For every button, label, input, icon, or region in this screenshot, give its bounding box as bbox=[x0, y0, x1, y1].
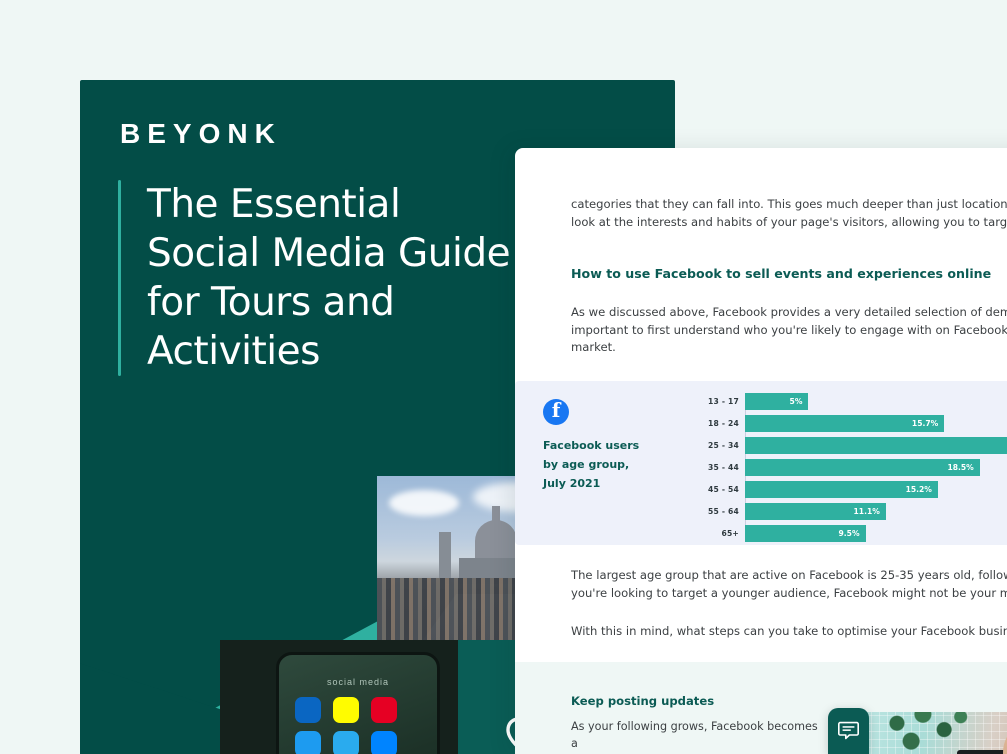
document-preview-panel: categories that they can fall into. This… bbox=[515, 148, 1007, 754]
chart-category-label: 18 - 24 bbox=[693, 419, 745, 428]
chart-bar-row: 35 - 4418.5% bbox=[693, 459, 1007, 476]
chart-bar-row: 25 - 34 bbox=[693, 437, 1007, 454]
chart-bar: 15.7% bbox=[745, 415, 944, 432]
social-app-icon-messenger bbox=[371, 731, 397, 754]
social-app-grid bbox=[295, 697, 423, 754]
chart-category-label: 13 - 17 bbox=[693, 397, 745, 406]
keep-posting-heading: Keep posting updates bbox=[571, 694, 821, 708]
paragraph-3-line-2: you're looking to target a younger audie… bbox=[571, 585, 1007, 603]
chart-bar: 9.5% bbox=[745, 525, 866, 542]
chart-value-label: 11.1% bbox=[854, 507, 880, 516]
screenshot-stage: BEYONK The Essential Social Media Guide … bbox=[0, 0, 1007, 754]
chart-legend: Facebook users by age group, July 2021 bbox=[515, 381, 693, 493]
facebook-age-chart: Facebook users by age group, July 2021 1… bbox=[515, 381, 1007, 545]
chart-bar-row: 45 - 5415.2% bbox=[693, 481, 1007, 498]
chart-plot-area: 13 - 175%18 - 2415.7%25 - 3435 - 4418.5%… bbox=[693, 381, 1007, 545]
social-app-icon-pinterest bbox=[371, 697, 397, 723]
chart-category-label: 65+ bbox=[693, 529, 745, 538]
social-app-icon-telegram bbox=[333, 731, 359, 754]
chart-bar: 11.1% bbox=[745, 503, 886, 520]
keep-posting-photo bbox=[853, 712, 1007, 754]
paragraph-2-line-3: market. bbox=[571, 339, 1007, 357]
chat-widget-button[interactable] bbox=[828, 708, 869, 754]
chart-bar-row: 18 - 2415.7% bbox=[693, 415, 1007, 432]
facebook-logo-icon bbox=[543, 399, 569, 425]
chart-bar-track bbox=[745, 437, 1007, 454]
section-heading-facebook: How to use Facebook to sell events and e… bbox=[571, 265, 1007, 283]
chart-value-label: 15.2% bbox=[906, 485, 932, 494]
chart-bar bbox=[745, 437, 1007, 454]
phone-screen: social media bbox=[276, 652, 440, 754]
chart-bar: 5% bbox=[745, 393, 808, 410]
chat-bubble-icon bbox=[838, 721, 859, 741]
paragraph-3-line-1: The largest age group that are active on… bbox=[571, 567, 1007, 585]
social-app-icon-snapchat bbox=[333, 697, 359, 723]
spacer-2 bbox=[571, 602, 1007, 623]
brand-logo: BEYONK bbox=[120, 118, 282, 150]
chart-bar-track: 15.2% bbox=[745, 481, 1007, 498]
chart-bar-row: 65+9.5% bbox=[693, 525, 1007, 542]
chart-legend-line-3: July 2021 bbox=[543, 474, 693, 493]
phone-folder-label: social media bbox=[279, 677, 437, 687]
title-accent-bar bbox=[118, 180, 121, 376]
chart-legend-line-2: by age group, bbox=[543, 455, 693, 474]
cover-title-block: The Essential Social Media Guide for Tou… bbox=[118, 180, 517, 376]
paragraph-2-line-1: As we discussed above, Facebook provides… bbox=[571, 304, 1007, 322]
chart-legend-line-1: Facebook users bbox=[543, 436, 693, 455]
chart-bar: 18.5% bbox=[745, 459, 980, 476]
chart-value-label: 18.5% bbox=[947, 463, 973, 472]
paragraph-4: With this in mind, what steps can you ta… bbox=[571, 623, 1007, 641]
cover-photo-phone: social media bbox=[220, 640, 458, 754]
social-app-icon-linkedin bbox=[295, 697, 321, 723]
chart-category-label: 25 - 34 bbox=[693, 441, 745, 450]
document-content: categories that they can fall into. This… bbox=[515, 148, 1007, 357]
chart-bar-track: 5% bbox=[745, 393, 1007, 410]
chart-bar-row: 13 - 175% bbox=[693, 393, 1007, 410]
spacer bbox=[571, 283, 1007, 304]
chart-bar-rows: 13 - 175%18 - 2415.7%25 - 3435 - 4418.5%… bbox=[693, 393, 1007, 542]
chart-bar-row: 55 - 6411.1% bbox=[693, 503, 1007, 520]
chart-value-label: 5% bbox=[790, 397, 803, 406]
paragraph-2-line-2: important to first understand who you're… bbox=[571, 322, 1007, 340]
chart-bar-track: 11.1% bbox=[745, 503, 1007, 520]
chart-value-label: 15.7% bbox=[912, 419, 938, 428]
chart-bar: 15.2% bbox=[745, 481, 938, 498]
keep-posting-section: Keep posting updates As your following g… bbox=[515, 662, 1007, 754]
chart-bar-track: 9.5% bbox=[745, 525, 1007, 542]
chart-category-label: 45 - 54 bbox=[693, 485, 745, 494]
chart-bar-track: 15.7% bbox=[745, 415, 1007, 432]
chart-bar-track: 18.5% bbox=[745, 459, 1007, 476]
paragraph-top-line-2: look at the interests and habits of your… bbox=[571, 214, 1007, 232]
chart-category-label: 35 - 44 bbox=[693, 463, 745, 472]
document-content-lower: The largest age group that are active on… bbox=[515, 545, 1007, 641]
chart-category-label: 55 - 64 bbox=[693, 507, 745, 516]
page-title: The Essential Social Media Guide for Tou… bbox=[147, 180, 517, 376]
paragraph-top-line-1: categories that they can fall into. This… bbox=[571, 196, 1007, 214]
chart-value-label: 9.5% bbox=[839, 529, 860, 538]
keep-posting-text: Keep posting updates As your following g… bbox=[515, 662, 821, 754]
social-app-icon-twitter bbox=[295, 731, 321, 754]
keep-posting-body-line-1: As your following grows, Facebook become… bbox=[571, 718, 821, 753]
